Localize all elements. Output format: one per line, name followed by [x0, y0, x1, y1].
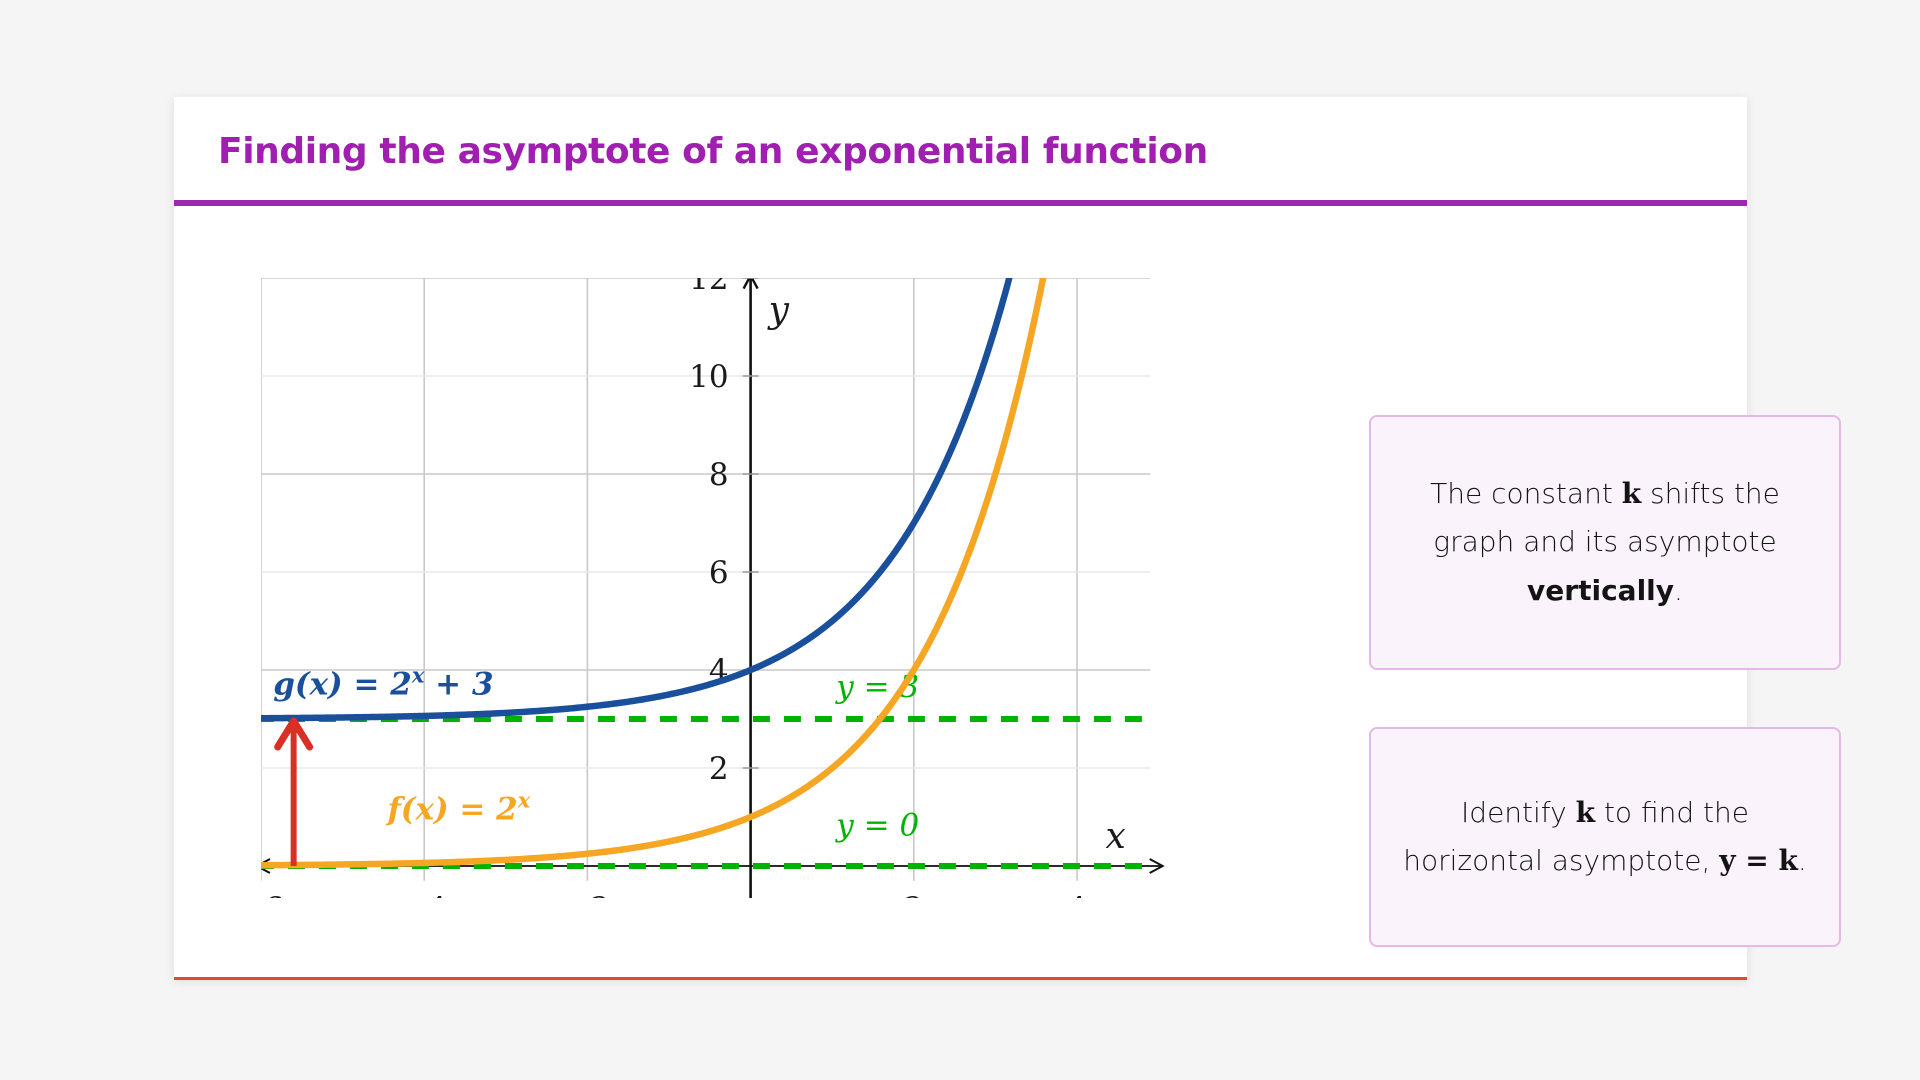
callout-identify-k: Identify k to find the horizontal asympt…	[1369, 727, 1841, 947]
callout-2-symbol: k	[1576, 796, 1595, 829]
x-tick-label: −6	[261, 891, 284, 898]
y-tick-label: 2	[709, 751, 729, 787]
asymptote-label: y = 0	[834, 808, 919, 844]
chart-canvas: 24681012−6−4−224yxy = 3y = 0f(x) = 2xg(x…	[261, 278, 1324, 898]
slide-stage: Finding the asymptote of an exponential …	[0, 0, 1920, 1080]
series-label: g(x) = 2x + 3	[273, 662, 493, 703]
x-tick-label: 4	[1067, 891, 1087, 898]
title-divider	[174, 200, 1747, 206]
series-label: f(x) = 2x	[385, 787, 530, 828]
y-tick-label: 10	[689, 359, 728, 395]
x-tick-label: −2	[565, 891, 611, 898]
curve-g	[261, 278, 1012, 718]
x-tick-label: −4	[401, 891, 447, 898]
exponential-asymptote-chart: 24681012−6−4−224yxy = 3y = 0f(x) = 2xg(x…	[261, 278, 1324, 898]
callout-2-text: Identify k to find the horizontal asympt…	[1401, 789, 1809, 885]
callout-constant-k-shift: The constant k shifts the graph and its …	[1369, 415, 1841, 670]
lesson-card: Finding the asymptote of an exponential …	[174, 97, 1747, 979]
y-tick-label: 6	[709, 555, 729, 591]
callout-2-emphasis: y = k	[1719, 844, 1798, 877]
page-title: Finding the asymptote of an exponential …	[218, 131, 1208, 172]
y-tick-label: 12	[689, 278, 728, 297]
y-axis-label: y	[767, 290, 790, 331]
callout-1-text: The constant k shifts the graph and its …	[1401, 470, 1809, 614]
callout-2-pre: Identify	[1461, 796, 1576, 829]
x-tick-label: 2	[904, 891, 924, 898]
callout-1-emphasis: vertically	[1527, 574, 1674, 607]
callout-2-post: .	[1798, 844, 1807, 877]
callout-1-post: .	[1674, 574, 1683, 607]
callout-1-pre: The constant	[1430, 477, 1622, 510]
callout-1-symbol: k	[1622, 477, 1641, 510]
card-bottom-accent	[174, 977, 1747, 980]
x-axis-label: x	[1106, 816, 1126, 857]
y-tick-label: 8	[709, 457, 729, 493]
